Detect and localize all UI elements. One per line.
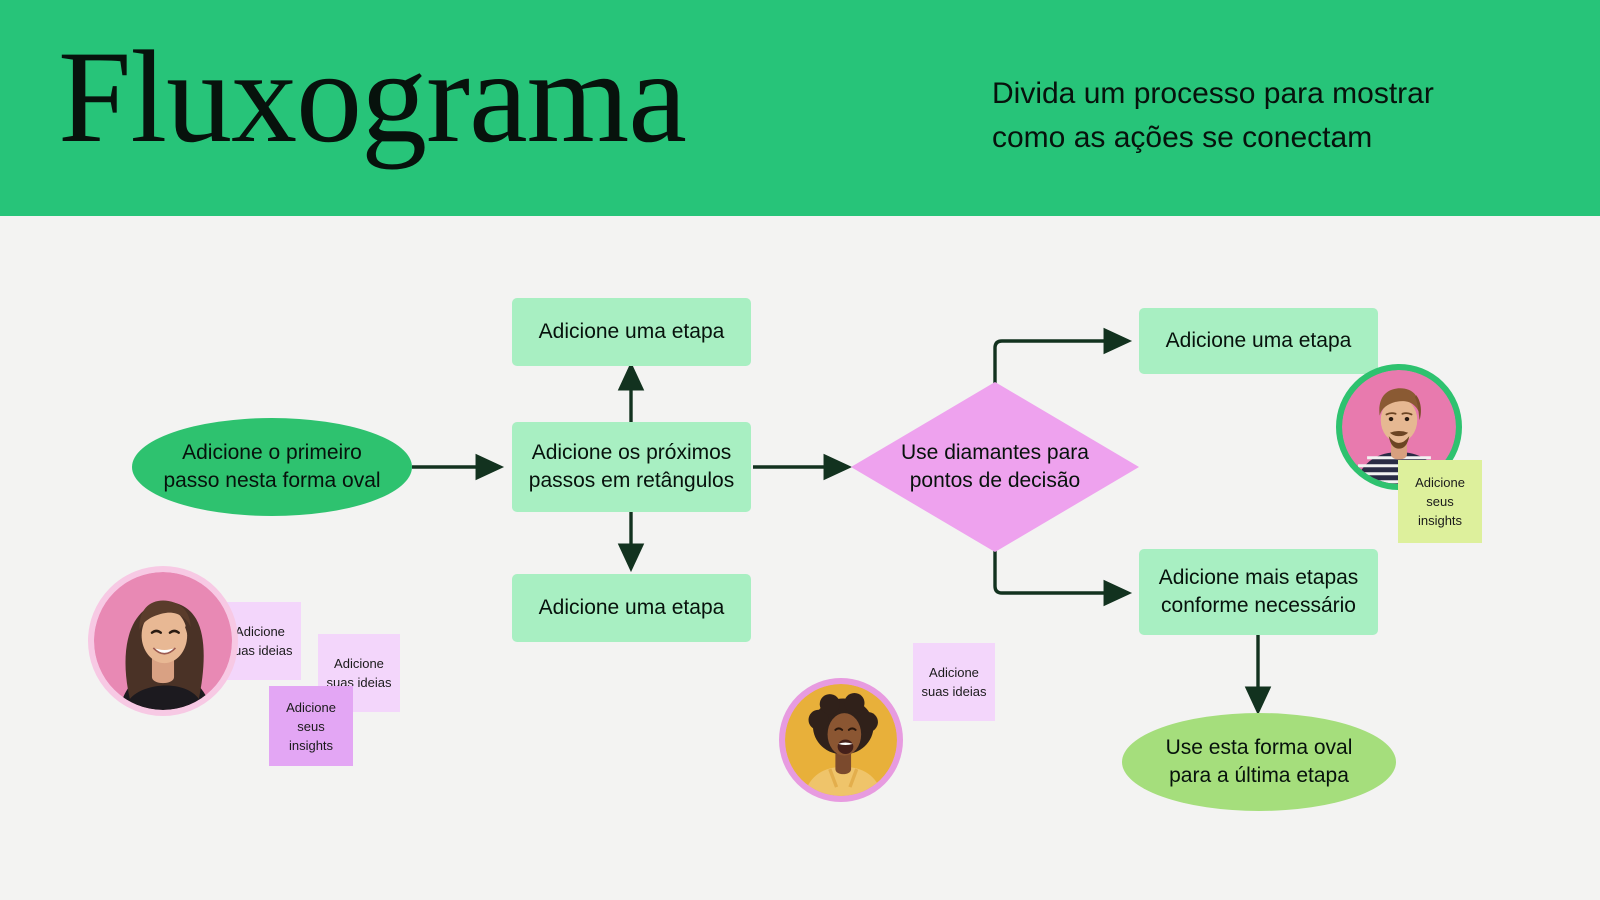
node-end-oval-line-1: Use esta forma oval	[1166, 736, 1353, 759]
node-branch-bottom-line-2: conforme necessário	[1161, 594, 1356, 617]
node-decision-line-1: Use diamantes para	[901, 441, 1089, 464]
connector-decision-to-branch-bottom	[995, 550, 1128, 593]
node-step-bottom[interactable]: Adicione uma etapa	[512, 574, 751, 642]
sticky-note-ideas-center[interactable]: Adicione suas ideias	[913, 643, 995, 721]
node-branch-bottom-label: Adicione mais etapas conforme necessário	[1159, 564, 1359, 620]
node-branch-top[interactable]: Adicione uma etapa	[1139, 308, 1378, 374]
node-start-oval-label: Adicione o primeiro passo nesta forma ov…	[163, 439, 380, 495]
sticky-note-insights-right-line-2: insights	[1418, 513, 1462, 528]
sticky-note-insights-left-text: Adicione seus insights	[275, 698, 347, 755]
sticky-note-insights-right-text: Adicione seus insights	[1404, 473, 1476, 530]
sticky-note-insights-left-line-2: insights	[289, 738, 333, 753]
sticky-note-insights-left-line-1: Adicione seus	[286, 700, 336, 734]
diagram-canvas: Adicione o primeiro passo nesta forma ov…	[0, 216, 1600, 900]
node-step-center[interactable]: Adicione os próximos passos em retângulo…	[512, 422, 751, 512]
node-step-center-line-2: passos em retângulos	[529, 469, 734, 492]
sticky-note-ideas-left-2-line-1: Adicione	[334, 656, 384, 671]
sticky-note-insights-left[interactable]: Adicione seus insights	[269, 686, 353, 766]
page-title: Fluxograma	[58, 22, 686, 172]
node-start-oval[interactable]: Adicione o primeiro passo nesta forma ov…	[132, 418, 412, 516]
avatar-woman-long-hair-photo	[94, 572, 232, 710]
header-banner: Fluxograma Divida um processo para mostr…	[0, 0, 1600, 216]
node-end-oval-label: Use esta forma oval para a última etapa	[1166, 734, 1353, 790]
node-end-oval-line-2: para a última etapa	[1169, 764, 1349, 787]
sticky-note-insights-right[interactable]: Adicione seus insights	[1398, 460, 1482, 543]
sticky-note-ideas-center-line-1: Adicione	[929, 665, 979, 680]
page-subtitle-line-2: como as ações se conectam	[992, 116, 1532, 160]
node-step-bottom-label: Adicione uma etapa	[539, 594, 725, 622]
node-start-oval-line-1: Adicione o primeiro	[182, 441, 362, 464]
page-subtitle-line-1: Divida um processo para mostrar	[992, 72, 1532, 116]
node-decision-diamond-label: Use diamantes para pontos de decisão	[888, 439, 1101, 495]
node-branch-bottom-line-1: Adicione mais etapas	[1159, 566, 1359, 589]
page-subtitle: Divida um processo para mostrar como as …	[992, 72, 1532, 160]
avatar-woman-afro[interactable]	[779, 678, 903, 802]
avatar-woman-long-hair[interactable]	[88, 566, 238, 716]
sticky-note-insights-right-line-1: Adicione seus	[1415, 475, 1465, 509]
sticky-note-ideas-left-line-1: Adicione	[235, 624, 285, 639]
sticky-note-ideas-center-text: Adicione suas ideias	[921, 663, 986, 701]
node-branch-top-label: Adicione uma etapa	[1166, 327, 1352, 355]
sticky-note-ideas-center-line-2: suas ideias	[921, 684, 986, 699]
node-step-center-label: Adicione os próximos passos em retângulo…	[529, 439, 734, 495]
node-step-top-label: Adicione uma etapa	[539, 318, 725, 346]
node-branch-bottom[interactable]: Adicione mais etapas conforme necessário	[1139, 549, 1378, 635]
node-decision-diamond[interactable]: Use diamantes para pontos de decisão	[851, 382, 1139, 552]
node-end-oval[interactable]: Use esta forma oval para a última etapa	[1122, 713, 1396, 811]
node-step-top[interactable]: Adicione uma etapa	[512, 298, 751, 366]
connector-decision-to-branch-top	[995, 341, 1128, 384]
flowchart-poster: Fluxograma Divida um processo para mostr…	[0, 0, 1600, 900]
avatar-woman-afro-photo	[785, 684, 897, 796]
node-step-center-line-1: Adicione os próximos	[532, 441, 732, 464]
node-decision-line-2: pontos de decisão	[910, 469, 1080, 492]
node-start-oval-line-2: passo nesta forma oval	[163, 469, 380, 492]
